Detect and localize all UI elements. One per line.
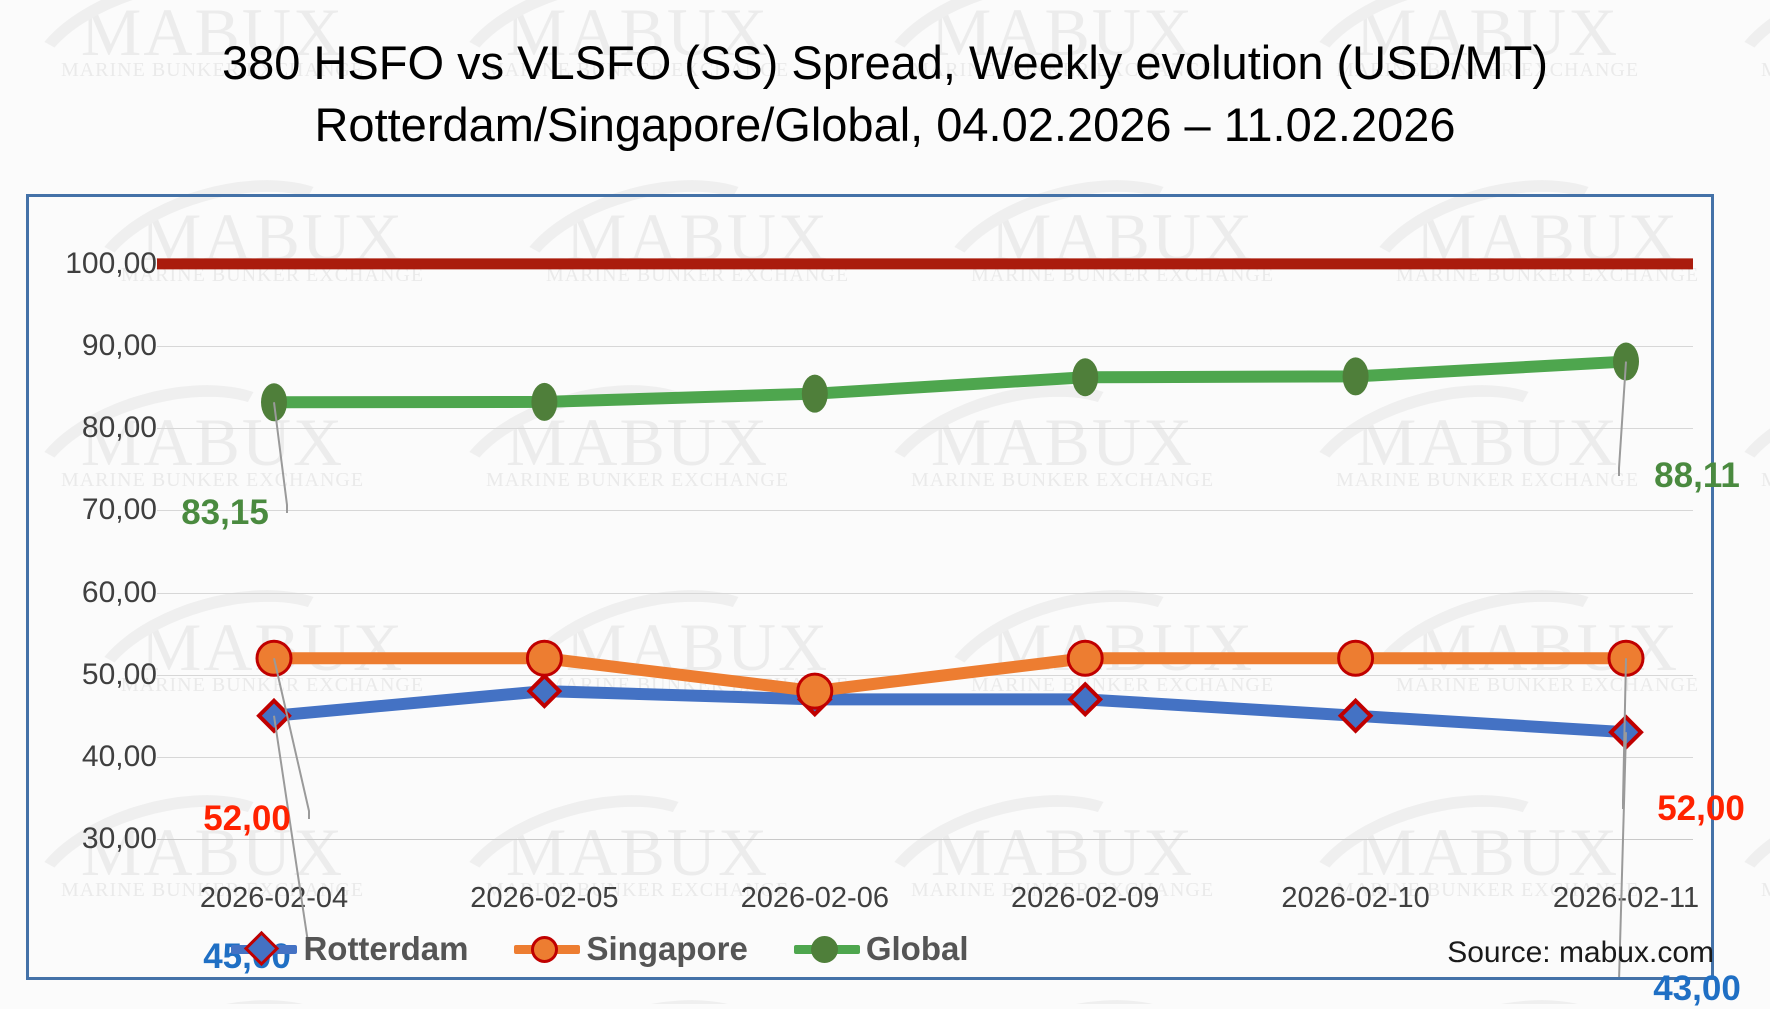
chart-legend: RotterdamSingaporeGlobal (0, 930, 1200, 968)
data-label: 52,00 (203, 799, 291, 839)
data-point-marker (1068, 641, 1102, 675)
legend-item-singapore[interactable]: Singapore (514, 930, 747, 968)
series-line-global (274, 362, 1626, 403)
legend-item-global[interactable]: Global (794, 930, 969, 968)
legend-marker-icon (514, 936, 580, 962)
legend-label: Singapore (586, 930, 747, 968)
chart-frame: 30,0040,0050,0060,0070,0080,0090,00100,0… (26, 194, 1714, 980)
data-point-marker (1341, 701, 1371, 731)
data-label: 43,00 (1653, 969, 1741, 1009)
data-point-marker (1339, 641, 1373, 675)
data-point-marker (798, 674, 832, 708)
data-point-marker (529, 676, 559, 706)
legend-marker-icon (231, 936, 297, 962)
data-point-marker (527, 641, 561, 675)
chart-title-line-1: 380 HSFO vs VLSFO (SS) Spread, Weekly ev… (0, 32, 1770, 94)
data-label: 52,00 (1657, 789, 1745, 829)
legend-item-rotterdam[interactable]: Rotterdam (231, 930, 468, 968)
data-point-marker (1343, 357, 1369, 395)
data-point-marker (802, 375, 828, 413)
annotation-leader-line (274, 402, 287, 513)
data-label: 83,15 (181, 493, 269, 533)
source-note: Source: mabux.com (1447, 936, 1714, 970)
annotation-leader-line (274, 658, 309, 819)
series-line-rotterdam (274, 691, 1626, 732)
data-point-marker (531, 383, 557, 421)
series-line-singapore (274, 658, 1626, 691)
legend-marker-icon (794, 936, 860, 962)
watermark-tile: MABUXMARINE BUNKER EXCHANGE (1760, 615, 1770, 697)
data-point-marker (1072, 358, 1098, 396)
legend-label: Global (866, 930, 969, 968)
data-label: 88,11 (1654, 456, 1740, 496)
plot-area: 30,0040,0050,0060,0070,0080,0090,00100,0… (29, 197, 1711, 977)
legend-label: Rotterdam (303, 930, 468, 968)
chart-title-line-2: Rotterdam/Singapore/Global, 04.02.2026 –… (0, 94, 1770, 156)
page-title: 380 HSFO vs VLSFO (SS) Spread, Weekly ev… (0, 32, 1770, 156)
data-point-marker (1070, 684, 1100, 714)
chart-series-canvas (29, 197, 1711, 977)
watermark-tile: MABUXMARINE BUNKER EXCHANGE (1760, 205, 1770, 287)
